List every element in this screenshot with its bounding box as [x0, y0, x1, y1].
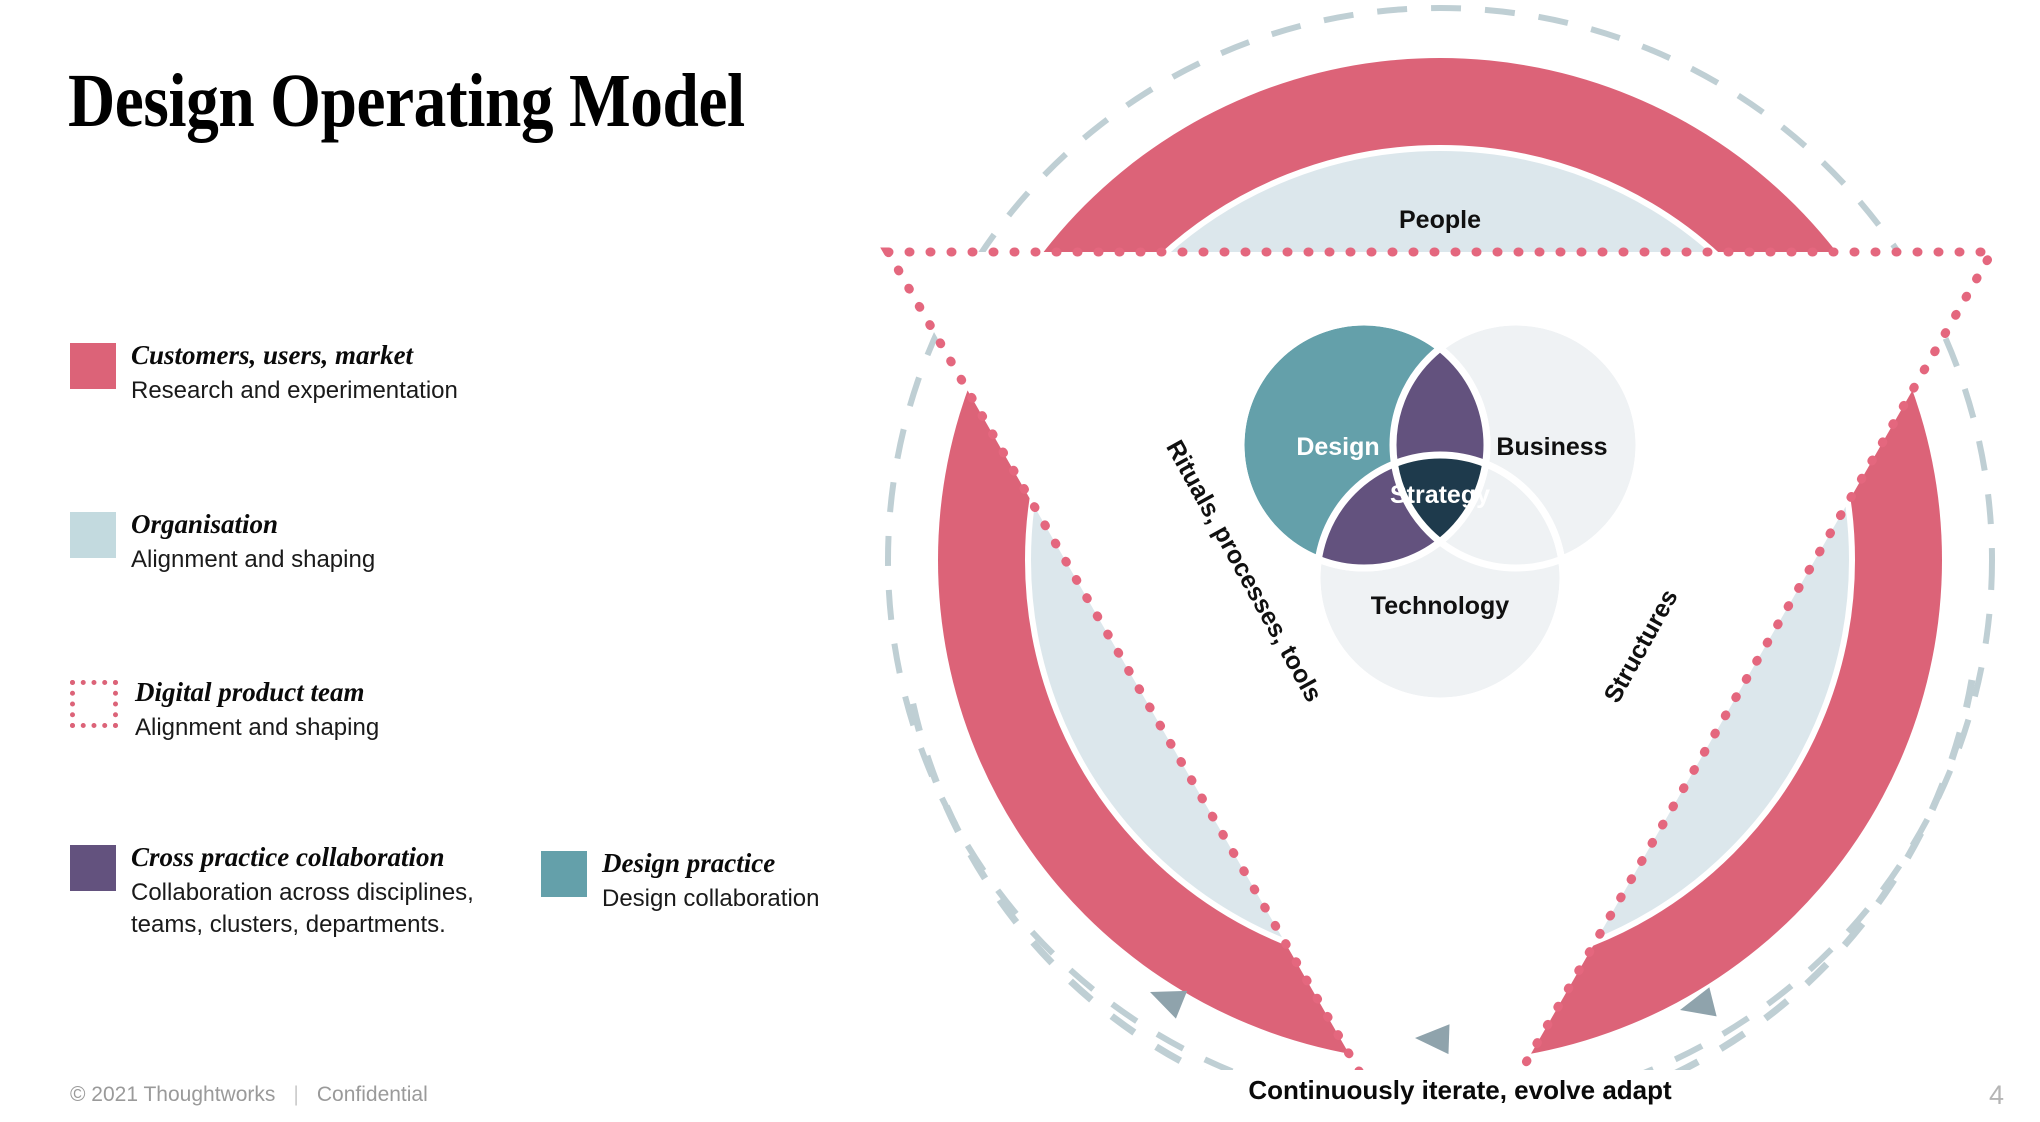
- legend-title: Organisation: [131, 509, 375, 541]
- page-title: Design Operating Model: [68, 62, 745, 142]
- legend-title: Design practice: [602, 848, 819, 880]
- venn-label-strategy: Strategy: [1390, 481, 1490, 509]
- footer-separator: |: [293, 1083, 298, 1107]
- legend-swatch-cross-practice-collaboration: [70, 845, 116, 891]
- legend-item-digital-product-team: Digital product team Alignment and shapi…: [70, 677, 379, 744]
- legend-text-block: Digital product team Alignment and shapi…: [135, 677, 379, 744]
- legend-item-customers-users-market: Customers, users, market Research and ex…: [70, 340, 458, 407]
- legend-text-block: Cross practice collaboration Collaborati…: [131, 842, 474, 941]
- legend-item-cross-practice-collaboration: Cross practice collaboration Collaborati…: [70, 842, 474, 941]
- legend-description: Alignment and shaping: [135, 712, 379, 744]
- legend-description: Design collaboration: [602, 883, 819, 915]
- legend-swatch-organisation: [70, 512, 116, 558]
- legend-description: Research and experimentation: [131, 375, 458, 407]
- legend-item-organisation: Organisation Alignment and shaping: [70, 509, 375, 576]
- design-operating-model-diagram: People Rituals, processes, tools Structu…: [880, 0, 2040, 1070]
- legend-title: Digital product team: [135, 677, 379, 709]
- page-number: 4: [1989, 1080, 2004, 1111]
- venn-label-technology: Technology: [1371, 592, 1510, 620]
- footer: © 2021 Thoughtworks | Confidential: [70, 1083, 428, 1107]
- legend-swatch-customers-users-market: [70, 343, 116, 389]
- venn-label-design: Design: [1296, 433, 1379, 461]
- legend-text-block: Design practice Design collaboration: [602, 848, 819, 915]
- legend-item-design-practice: Design practice Design collaboration: [541, 848, 819, 915]
- legend-title: Cross practice collaboration: [131, 842, 474, 874]
- legend-title: Customers, users, market: [131, 340, 458, 372]
- iteration-caption: Continuously iterate, evolve adapt: [880, 1075, 2040, 1106]
- legend-text-block: Organisation Alignment and shaping: [131, 509, 375, 576]
- legend-description: Alignment and shaping: [131, 544, 375, 576]
- ring-label-people: People: [1399, 206, 1481, 234]
- legend-text-block: Customers, users, market Research and ex…: [131, 340, 458, 407]
- footer-copyright: © 2021 Thoughtworks: [70, 1083, 275, 1107]
- footer-confidential: Confidential: [317, 1083, 428, 1107]
- venn-label-business: Business: [1496, 433, 1607, 461]
- legend-description: Collaboration across disciplines, teams,…: [131, 877, 474, 941]
- legend-swatch-design-practice: [541, 851, 587, 897]
- legend-swatch-digital-product-team: [70, 680, 118, 728]
